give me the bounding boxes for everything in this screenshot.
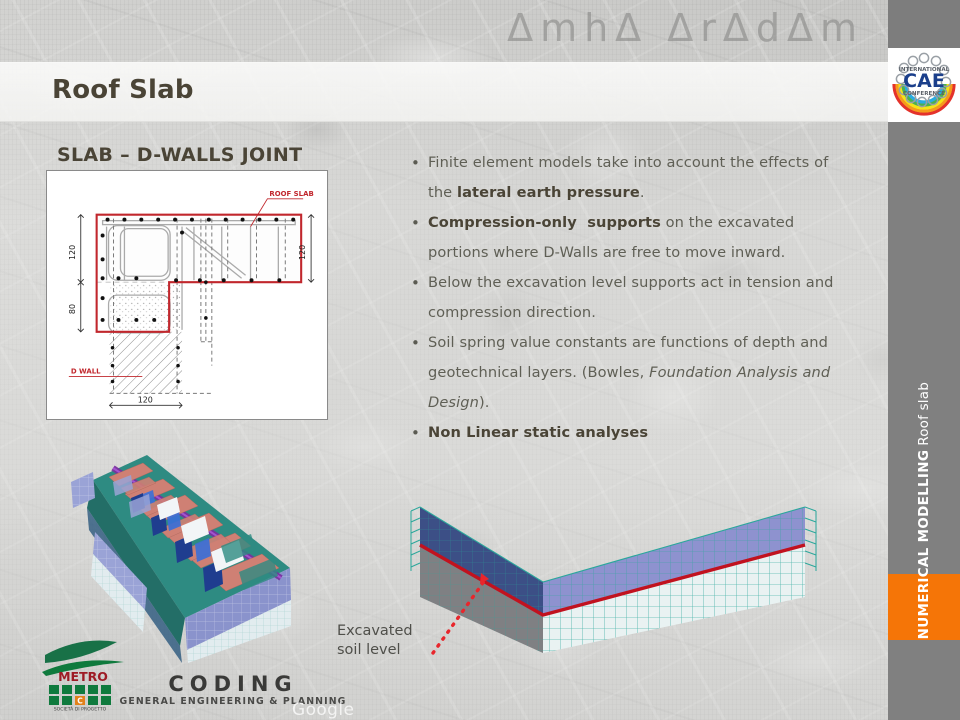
sidebar-label-line2: Roof slab xyxy=(916,382,932,446)
brand-watermark: ΔmhΔ ΔrΔdΔm xyxy=(507,6,864,50)
dimension-label-left-upper: 120 xyxy=(68,245,77,260)
cae-logo-icon: INTERNATIONAL CAE CONFERENCE xyxy=(888,48,960,122)
excavation-annotation: Excavated soil level xyxy=(337,622,413,660)
dimension-label-left-lower: 80 xyxy=(68,304,77,314)
cae-conference-logo: INTERNATIONAL CAE CONFERENCE xyxy=(888,48,960,122)
fem-soil-block-model xyxy=(395,485,825,655)
dimension-label-right: 120 xyxy=(298,245,307,260)
bullet-text: Below the excavation level supports act … xyxy=(428,268,854,328)
presentation-slide: ΔmhΔ ΔrΔdΔm Roof Slab xyxy=(0,0,960,720)
bullet-marker: • xyxy=(406,208,428,238)
annotation-line1: Excavated xyxy=(337,622,413,641)
bullet-list: • Finite element models take into accoun… xyxy=(406,148,854,448)
top-right-grey-block xyxy=(888,0,960,48)
sidebar-bottom-grey xyxy=(888,640,960,720)
section-heading: SLAB – D-WALLS JOINT xyxy=(57,144,302,166)
metro-logo-word: METRO xyxy=(58,669,108,684)
bullet-marker: • xyxy=(406,418,428,448)
coding-logo-title: CODING xyxy=(118,672,348,696)
bullet-text: Finite element models take into account … xyxy=(428,148,854,208)
d-wall-hatch xyxy=(110,332,182,394)
station-box-mesh xyxy=(25,450,345,665)
cae-logo-main-text: CAE xyxy=(903,70,945,92)
bullet-below-excavation-level: • Below the excavation level supports ac… xyxy=(406,268,854,328)
metro-logo-icon: METRO C SOCIETÀ DI PROGETTO xyxy=(40,660,126,712)
bullet-marker: • xyxy=(406,328,428,358)
annotation-line2: soil level xyxy=(337,641,413,660)
bullet-compression-only-supports: • Compression-only supports on the excav… xyxy=(406,208,854,268)
roof-slab-label: ROOF SLAB xyxy=(269,190,313,198)
page-title: Roof Slab xyxy=(52,75,194,105)
bullet-marker: • xyxy=(406,268,428,298)
top-band: ΔmhΔ ΔrΔdΔm xyxy=(0,0,888,62)
d-wall-label: D WALL xyxy=(71,368,101,376)
soil-block-mesh xyxy=(395,485,825,655)
svg-text:C: C xyxy=(77,697,83,706)
title-bar: Roof Slab xyxy=(0,62,888,122)
bullet-fem-lateral-earth-pressure: • Finite element models take into accoun… xyxy=(406,148,854,208)
metro-logo: METRO C SOCIETÀ DI PROGETTO xyxy=(40,660,126,712)
bullet-soil-spring-constants: • Soil spring value constants are functi… xyxy=(406,328,854,418)
bullet-marker: • xyxy=(406,148,428,178)
map-attribution-watermark: Google xyxy=(292,700,354,720)
dimension-label-bottom: 120 xyxy=(138,395,153,404)
fem-station-box-model xyxy=(25,450,345,665)
bullet-text: Compression-only supports on the excavat… xyxy=(428,208,854,268)
bullet-text: Soil spring value constants are function… xyxy=(428,328,854,418)
sidebar-label-line1: NUMERICAL MODELLING xyxy=(916,450,932,640)
bullet-text: Non Linear static analyses xyxy=(428,418,854,448)
metro-logo-subtitle: SOCIETÀ DI PROGETTO xyxy=(54,706,107,713)
slab-dwall-joint-drawing: 120 80 120 120 xyxy=(47,171,327,419)
cae-logo-bottom-text: CONFERENCE xyxy=(903,91,945,97)
technical-drawing-panel: 120 80 120 120 xyxy=(46,170,328,420)
bullet-non-linear-static-analyses: • Non Linear static analyses xyxy=(406,418,854,448)
right-sidebar: NUMERICAL MODELLING Roof slab 18 xyxy=(888,122,960,720)
